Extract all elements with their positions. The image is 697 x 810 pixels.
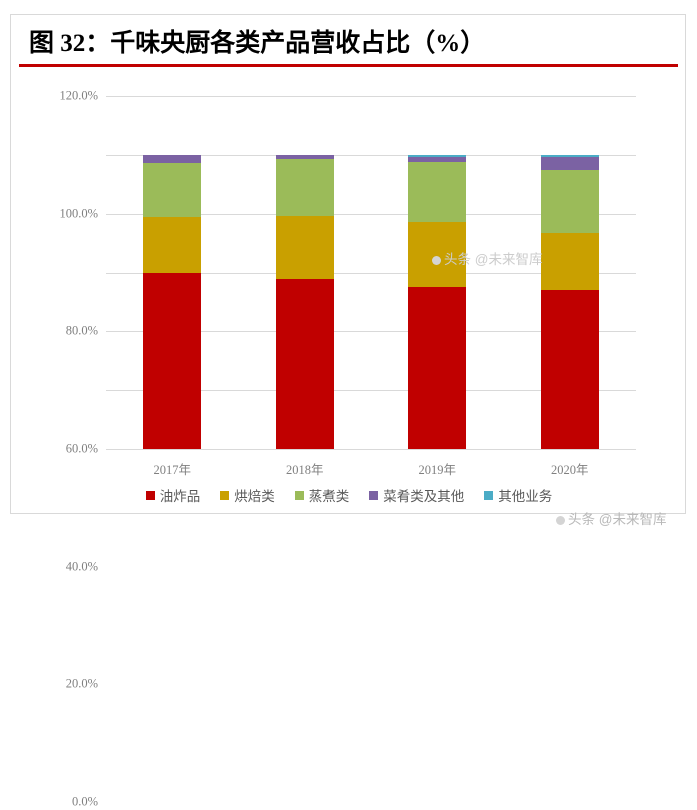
- bar-segment[interactable]: [541, 233, 599, 290]
- legend-swatch-icon: [220, 491, 229, 500]
- bar-segment[interactable]: [541, 157, 599, 170]
- chart-plot-area: 120.0%100.0%80.0%60.0%40.0%20.0%0.0%2017…: [106, 96, 636, 449]
- bar-segment[interactable]: [143, 163, 201, 217]
- bar-group: 2018年: [239, 96, 372, 449]
- legend-swatch-icon: [369, 491, 378, 500]
- legend-item-label: 烘焙类: [234, 485, 275, 505]
- stacked-bar[interactable]: [541, 155, 599, 449]
- bar-segment[interactable]: [276, 159, 334, 216]
- legend-item-label: 菜肴类及其他: [383, 485, 464, 505]
- bar-segment[interactable]: [408, 222, 466, 287]
- legend-item[interactable]: 菜肴类及其他: [369, 485, 464, 505]
- stacked-bar[interactable]: [408, 155, 466, 449]
- y-axis-tick-label: 20.0%: [66, 677, 98, 692]
- y-axis-tick-label: 0.0%: [72, 795, 98, 810]
- y-axis-tick-label: 60.0%: [66, 442, 98, 457]
- watermark-dot-icon: [556, 516, 565, 525]
- stacked-bar[interactable]: [143, 155, 201, 449]
- bar-segment[interactable]: [408, 162, 466, 222]
- bar-segment[interactable]: [541, 290, 599, 449]
- legend-swatch-icon: [295, 491, 304, 500]
- figure-title-bar: 图 32：千味央厨各类产品营收占比（%）: [11, 15, 685, 65]
- x-axis-tick-label: 2019年: [418, 459, 456, 478]
- legend-item-label: 油炸品: [160, 485, 201, 505]
- bar-segment[interactable]: [143, 155, 201, 163]
- bar-segment[interactable]: [143, 273, 201, 449]
- bar-segment[interactable]: [276, 216, 334, 279]
- page-title: 图 32：千味央厨各类产品营收占比（%）: [29, 23, 485, 59]
- stacked-bar[interactable]: [276, 155, 334, 449]
- bar-segment[interactable]: [541, 170, 599, 233]
- legend-item[interactable]: 其他业务: [484, 485, 552, 505]
- gridline: 0.0%: [106, 449, 636, 450]
- y-axis-tick-label: 80.0%: [66, 324, 98, 339]
- chart-legend: 油炸品烘焙类蒸煮类菜肴类及其他其他业务: [11, 485, 687, 505]
- bar-segment[interactable]: [143, 217, 201, 273]
- y-axis-tick-label: 120.0%: [59, 89, 98, 104]
- bar-group: 2017年: [106, 96, 239, 449]
- legend-swatch-icon: [484, 491, 493, 500]
- bar-group: 2020年: [504, 96, 637, 449]
- bar-segment[interactable]: [276, 279, 334, 449]
- legend-item[interactable]: 油炸品: [146, 485, 201, 505]
- figure-container: 图 32：千味央厨各类产品营收占比（%） 120.0%100.0%80.0%60…: [10, 14, 686, 514]
- y-axis-tick-label: 100.0%: [59, 206, 98, 221]
- x-axis-tick-label: 2020年: [551, 459, 589, 478]
- bar-group: 2019年: [371, 96, 504, 449]
- x-axis-tick-label: 2017年: [153, 459, 191, 478]
- legend-swatch-icon: [146, 491, 155, 500]
- y-axis-tick-label: 40.0%: [66, 559, 98, 574]
- x-axis-tick-label: 2018年: [286, 459, 324, 478]
- legend-item-label: 其他业务: [498, 485, 552, 505]
- legend-item[interactable]: 烘焙类: [220, 485, 275, 505]
- legend-item-label: 蒸煮类: [309, 485, 350, 505]
- watermark-bottom-text: 头条 @未来智库: [568, 512, 666, 527]
- legend-item[interactable]: 蒸煮类: [295, 485, 350, 505]
- bar-segment[interactable]: [408, 287, 466, 449]
- chart-plot-wrapper: 120.0%100.0%80.0%60.0%40.0%20.0%0.0%2017…: [11, 67, 687, 467]
